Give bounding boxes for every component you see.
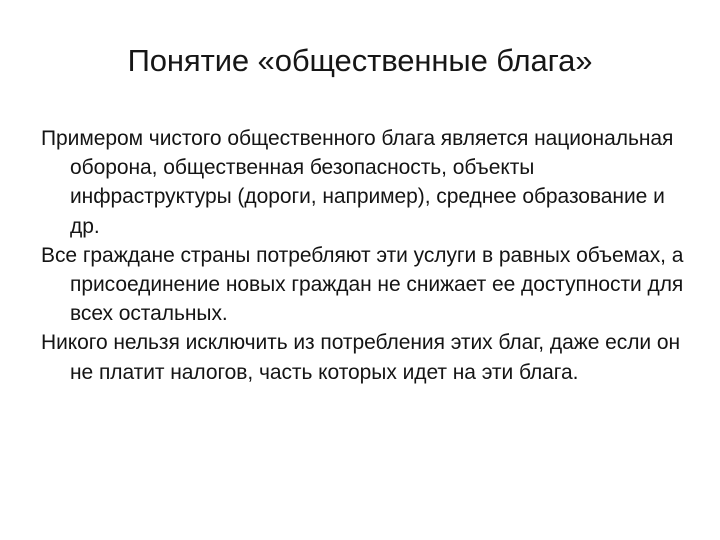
body-paragraph-1: Примером чистого общественного блага явл… (41, 124, 686, 241)
slide-body: Примером чистого общественного блага явл… (41, 124, 686, 387)
body-paragraph-3: Никого нельзя исключить из потребления э… (41, 328, 686, 386)
slide-title: Понятие «общественные блага» (0, 42, 720, 80)
presentation-slide: Понятие «общественные блага» Примером чи… (0, 0, 720, 540)
body-paragraph-2: Все граждане страны потребляют эти услуг… (41, 241, 686, 329)
